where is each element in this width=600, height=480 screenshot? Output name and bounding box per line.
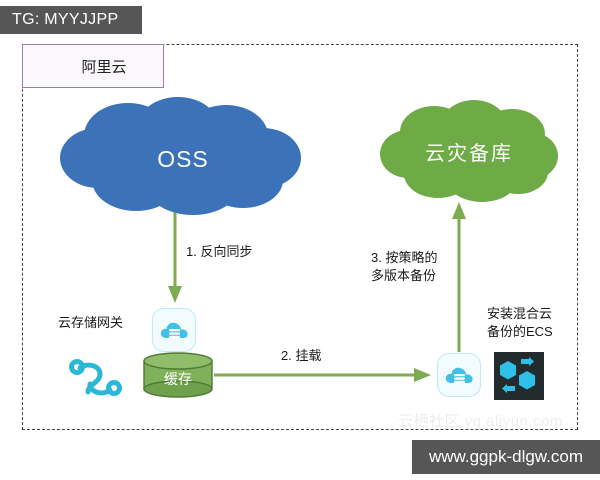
cache-cylinder: 缓存 xyxy=(142,352,214,398)
arrow-label-mount: 2. 挂载 xyxy=(281,347,321,365)
hybrid-backup-gateway-icon xyxy=(437,353,481,397)
ecs-hexagon-glyph xyxy=(499,357,539,395)
arrow-label-reverse-sync: 1. 反向同步 xyxy=(186,243,252,261)
node-label-ecs: 安装混合云 备份的ECS xyxy=(487,305,553,340)
cloud-oss: OSS xyxy=(58,96,308,216)
cloud-dr-shape xyxy=(378,98,560,202)
arrow-label-policy-backup: 3. 按策略的 多版本备份 xyxy=(371,249,437,284)
cloud-oss-shape xyxy=(58,96,308,216)
footer-site-bar: www.ggpk-dlgw.com xyxy=(412,440,600,474)
cloud-server-glyph xyxy=(159,318,189,342)
tg-badge-label: TG: MYYJJPP xyxy=(12,11,118,29)
region-title-box: 阿里云 xyxy=(22,44,164,88)
cloud-server-glyph xyxy=(444,363,474,387)
ecs-icon xyxy=(494,352,544,400)
tg-badge: TG: MYYJJPP xyxy=(0,6,142,34)
footer-site-label: www.ggpk-dlgw.com xyxy=(429,447,583,467)
region-title-label: 阿里云 xyxy=(81,56,126,77)
cloud-storage-gateway-logo-icon xyxy=(66,352,128,404)
cache-cylinder-label: 缓存 xyxy=(142,356,214,402)
watermark: 云栖社区 yq.aliyun.com xyxy=(398,410,563,431)
node-label-cloud-storage-gateway: 云存储网关 xyxy=(58,314,123,332)
cloud-disaster-recovery: 云灾备库 xyxy=(378,98,560,202)
cloud-storage-gateway-icon xyxy=(152,308,196,352)
